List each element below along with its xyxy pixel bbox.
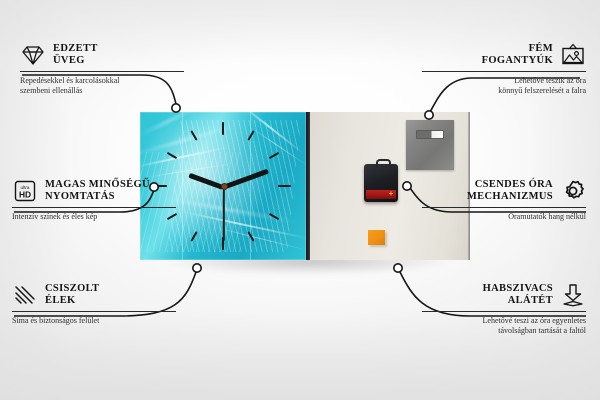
feature-description: Repedésekkel és karcolásokkal szembeni e… <box>20 76 184 96</box>
feature-rule <box>12 311 176 312</box>
feature-title: MAGAS MINŐSÉGŰ NYOMTATÁS <box>45 179 150 204</box>
feature-high-quality-print: ultra HD MAGAS MINŐSÉGŰ NYOMTATÁS Intenz… <box>12 178 176 222</box>
metal-hanger-plate <box>406 120 454 170</box>
feature-metal-handles: FÉM FOGANTYÚK Lehetővé teszik az óra kön… <box>422 42 586 96</box>
diamond-icon <box>20 42 46 68</box>
svg-text:HD: HD <box>19 190 31 200</box>
foam-pad <box>368 230 385 245</box>
feature-description: Sima és biztonságos felület <box>12 316 176 326</box>
picture-hanger-icon <box>560 42 586 68</box>
feature-rule <box>20 71 184 72</box>
feature-rule <box>422 311 586 312</box>
polished-edges-icon <box>12 282 38 308</box>
foam-pad-arrow-icon <box>560 282 586 308</box>
gear-icon <box>560 178 586 204</box>
feature-foam-spacer: HABSZIVACS ALÁTÉT Lehetővé teszi az óra … <box>422 282 586 336</box>
feature-title: CSENDES ÓRA MECHANIZMUS <box>467 179 553 204</box>
clock-tick <box>278 185 291 187</box>
ultra-hd-icon: ultra HD <box>12 178 38 204</box>
feature-rule <box>12 207 176 208</box>
battery: + <box>366 190 396 199</box>
feature-tempered-glass: EDZETT ÜVEG Repedésekkel és karcolásokka… <box>20 42 184 96</box>
feature-description: Lehetővé teszi az óra egyenletes távolsá… <box>422 316 586 336</box>
clock-center-pin <box>221 183 228 190</box>
feature-polished-edges: CSISZOLT ÉLEK Sima és biztonságos felüle… <box>12 282 176 326</box>
feature-description: Óramutatók hang nélkül <box>422 212 586 222</box>
feature-title: FÉM FOGANTYÚK <box>482 43 553 68</box>
mechanism-hang-loop <box>376 159 391 168</box>
clock-mechanism: + <box>364 164 398 202</box>
feature-description: Lehetővé teszik az óra könnyű felszerelé… <box>422 76 586 96</box>
clock-tick <box>222 122 224 135</box>
product-image: + <box>140 112 470 260</box>
feature-title: EDZETT ÜVEG <box>53 43 98 68</box>
feature-silent-mechanism: CSENDES ÓRA MECHANIZMUS Óramutatók hang … <box>422 178 586 222</box>
clock-second-hand <box>223 187 225 241</box>
feature-rule <box>422 207 586 208</box>
feature-rule <box>422 71 586 72</box>
battery-plus-terminal: + <box>388 191 394 197</box>
hanger-keyhole-slot <box>416 130 444 139</box>
product-feature-infographic: + <box>0 0 600 400</box>
feature-description: Intenzív színek és éles kép <box>12 212 176 222</box>
feature-title: HABSZIVACS ALÁTÉT <box>483 283 553 308</box>
feature-title: CSISZOLT ÉLEK <box>45 283 99 308</box>
connector-endpoint-tempered-glass <box>172 104 180 112</box>
